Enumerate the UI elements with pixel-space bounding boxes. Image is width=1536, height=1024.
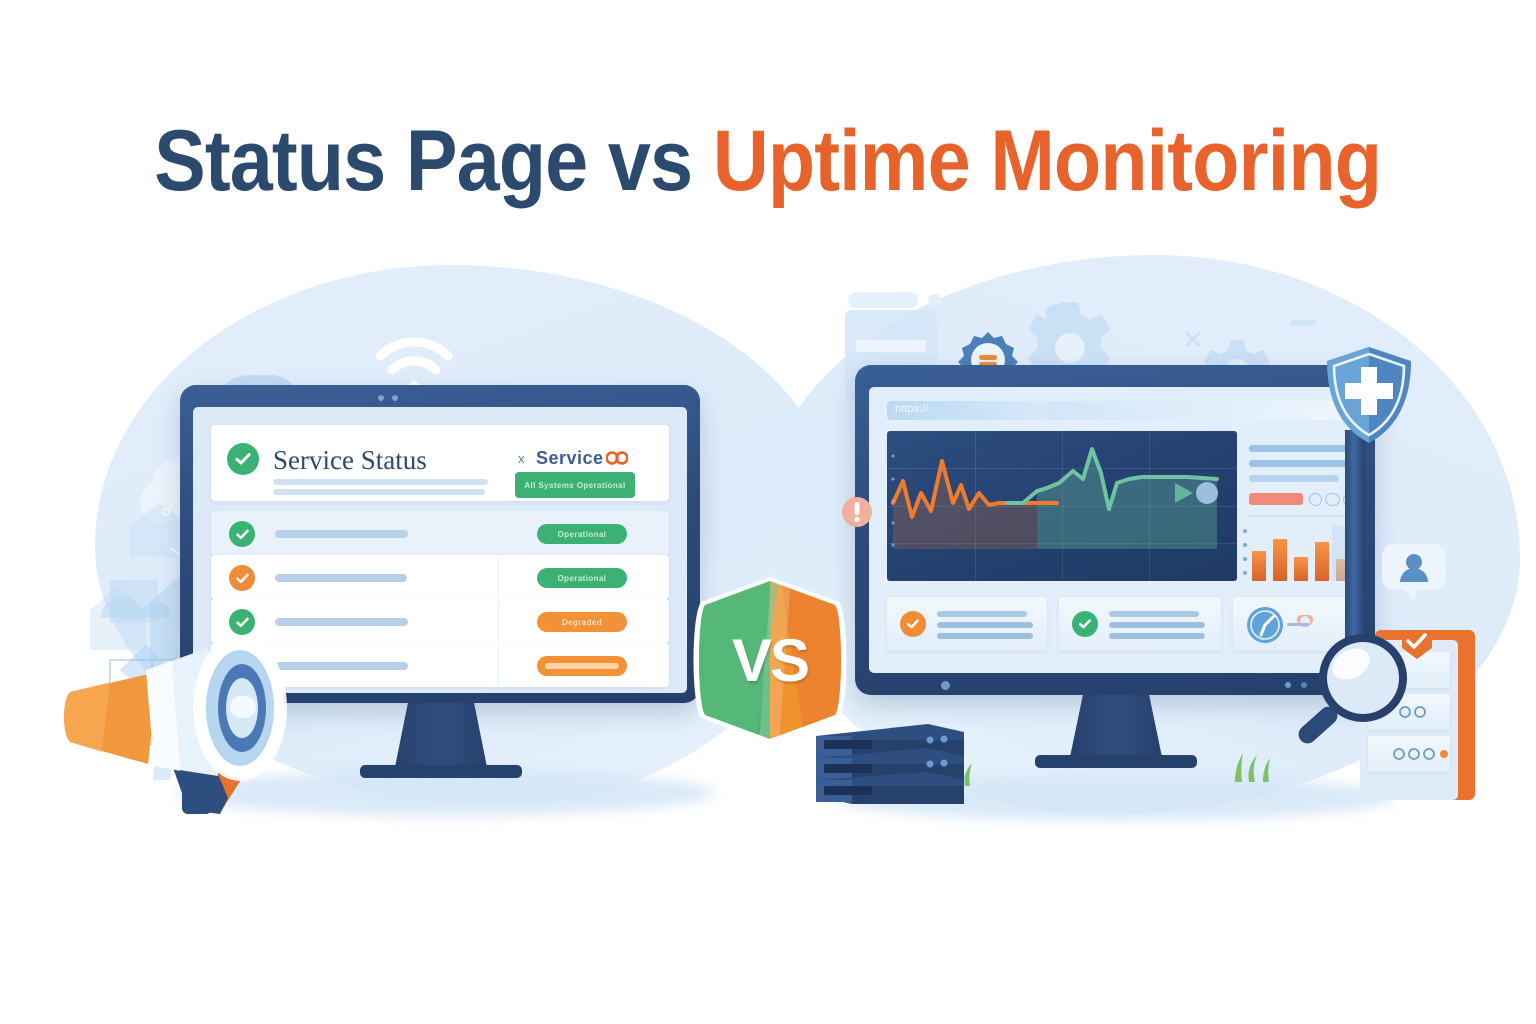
vs-badge: VS — [685, 575, 855, 745]
urlbar-text: https:// — [895, 403, 928, 415]
wifi-icon — [370, 330, 458, 392]
row-check-icon — [229, 521, 255, 547]
page-title-part-orange: Uptime Monitoring — [713, 113, 1381, 209]
gauge-icon — [1245, 605, 1285, 645]
bar-axis-dots — [1241, 527, 1249, 583]
bar — [1252, 551, 1266, 581]
camera-dot-2 — [392, 395, 398, 401]
bar — [1315, 542, 1329, 581]
brand-logo-prefix: x — [518, 451, 525, 466]
background-doc-dot — [928, 294, 941, 307]
row-check-icon — [229, 565, 255, 591]
sidebar-highlight-bar — [1249, 493, 1303, 505]
row-divider — [498, 645, 499, 685]
grass-decor-right — [1225, 750, 1285, 782]
user-avatar-icon — [1378, 540, 1450, 604]
sidebar-line — [1249, 475, 1339, 482]
card-line — [1109, 611, 1199, 617]
monitor-neck-left — [395, 703, 487, 767]
card-line — [1109, 633, 1205, 639]
header-check-icon — [227, 443, 259, 475]
chart-svg — [887, 431, 1237, 581]
row-divider — [498, 601, 499, 641]
card-line — [937, 622, 1033, 628]
card-line — [937, 611, 1027, 617]
sidebar-line — [1249, 460, 1347, 467]
row-badge-inner-bar — [545, 663, 619, 669]
row-label-bar — [275, 574, 407, 582]
monitor-base-left — [360, 765, 522, 778]
monitor-neck-right — [1070, 695, 1162, 757]
vs-label: VS — [685, 575, 855, 745]
row-label-bar — [275, 618, 408, 626]
card-check-icon — [1072, 611, 1098, 637]
monitoring-chart — [887, 431, 1237, 581]
brand-logo-text: Service — [536, 448, 604, 469]
header-line-2 — [273, 489, 485, 495]
card-line — [937, 633, 1033, 639]
megaphone-icon — [62, 630, 292, 815]
row-divider — [498, 557, 499, 597]
all-systems-operational-button[interactable]: All Systems Operational — [515, 472, 635, 498]
row-status-badge: Operational — [537, 524, 627, 544]
magnifier-icon — [1285, 620, 1425, 760]
bar — [1294, 557, 1308, 581]
card-line — [1109, 622, 1205, 628]
service-status-title: Service Status — [273, 445, 427, 475]
camera-dot-1 — [378, 395, 384, 401]
power-dot — [941, 681, 950, 690]
browser-urlbar-extension — [1047, 401, 1357, 420]
row-status-badge: Operational — [537, 568, 627, 588]
row-label-bar — [275, 530, 408, 538]
card-check-icon — [900, 611, 926, 637]
bar — [1273, 539, 1287, 581]
row-status-badge: Degraded — [537, 612, 627, 632]
brand-logo-mark — [606, 451, 628, 465]
shield-cross-icon — [1323, 345, 1415, 449]
ring-indicator — [1325, 493, 1340, 506]
illustration-canvas: Status Page vs Uptime Monitoring — [0, 0, 1536, 1024]
page-title-part-navy: Status Page vs — [155, 113, 714, 209]
header-line-1 — [273, 479, 488, 485]
ring-indicator — [1309, 493, 1322, 506]
row-divider — [498, 513, 499, 553]
monitor-base-right — [1035, 755, 1197, 768]
sidebar-divider — [1249, 515, 1354, 517]
background-doc-pill — [848, 292, 918, 308]
background-doc-line — [856, 340, 926, 352]
row-label-bar — [275, 662, 408, 670]
alert-badge-icon — [840, 495, 874, 529]
page-title: Status Page vs Uptime Monitoring — [0, 118, 1536, 204]
